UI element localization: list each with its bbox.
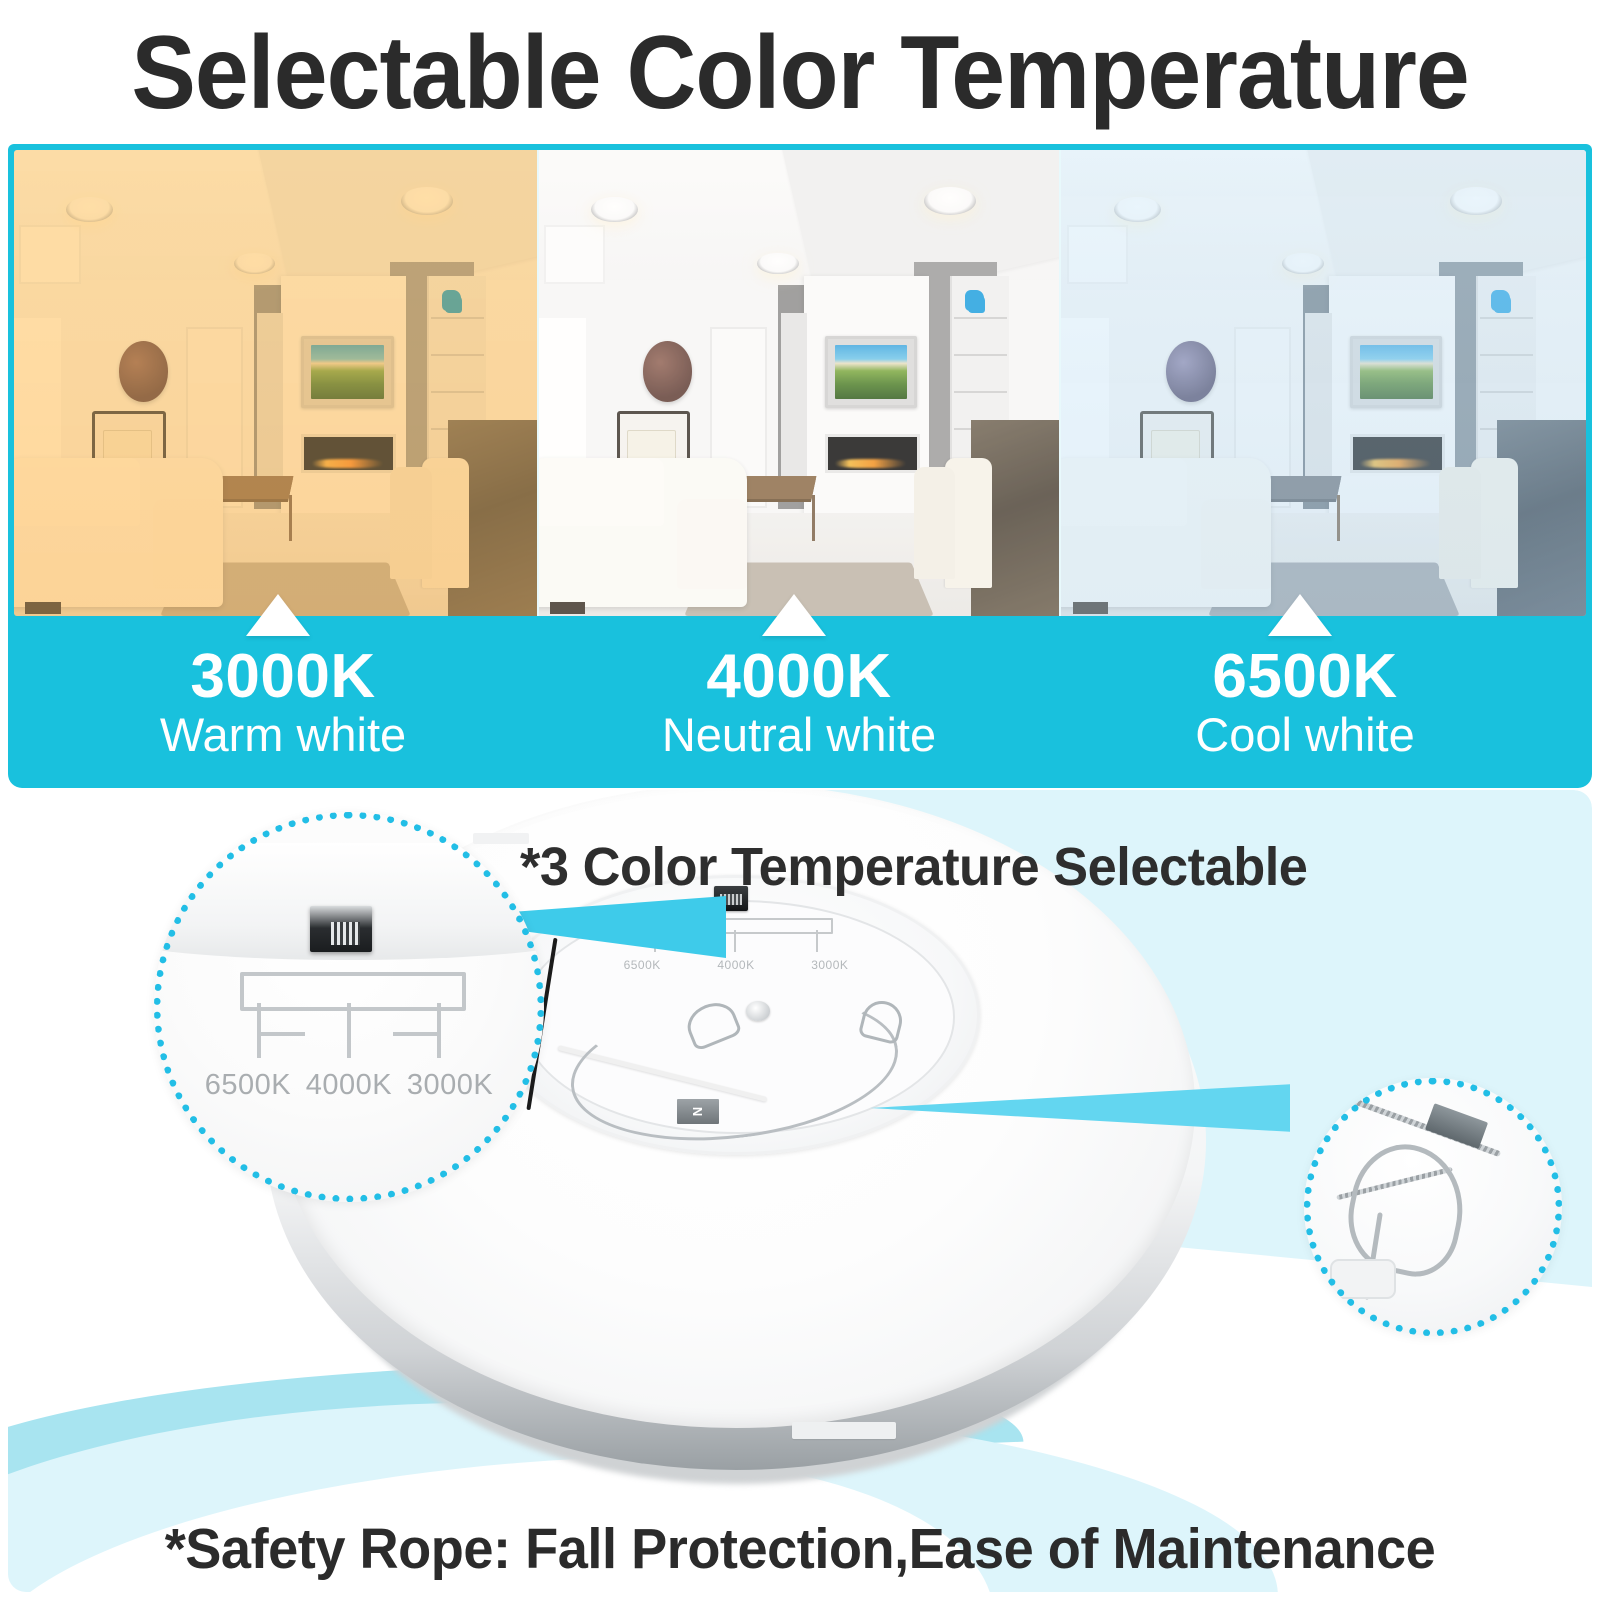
ceiling-light-fixture (1282, 253, 1324, 274)
mounting-screw (746, 1001, 770, 1021)
header: Selectable Color Temperature (0, 0, 1600, 146)
blue-deer-figurine (442, 290, 462, 311)
footnote-text: *Safety Rope: Fall Protection,Ease of Ma… (48, 1516, 1553, 1582)
wall-plate-decor (643, 341, 692, 402)
ceiling-light-fixture (234, 253, 276, 274)
room-photo-strip (14, 150, 1586, 616)
sofa (537, 458, 747, 607)
wire-tag-label: N (691, 1107, 706, 1116)
kelvin-name-neutral: Neutral white (604, 710, 994, 761)
sofa (14, 458, 223, 607)
switch-label-4000k: 4000K (717, 958, 754, 972)
tv-screen (825, 336, 917, 407)
room-scene-warm (14, 150, 537, 616)
label-group-warm: 3000K Warm white (88, 644, 478, 760)
wire-tag: N (677, 1099, 719, 1124)
blue-deer-figurine (965, 290, 984, 311)
fireplace (1350, 434, 1445, 473)
switch-label-6500k: 6500K (624, 958, 661, 972)
pointer-arrow-neutral (762, 594, 826, 636)
color-temperature-comparison-card: 3000K Warm white 4000K Neutral white 650… (8, 144, 1592, 788)
kelvin-name-warm: Warm white (88, 710, 478, 761)
kelvin-value-warm: 3000K (88, 644, 478, 710)
tv-screen (301, 336, 393, 407)
pointer-arrow-warm (246, 594, 310, 636)
kelvin-value-neutral: 4000K (604, 644, 994, 710)
room-scene-cool (1059, 150, 1586, 616)
kelvin-value-cool: 6500K (1110, 644, 1500, 710)
pointer-arrow-cool (1268, 594, 1332, 636)
blue-deer-figurine (1491, 290, 1511, 311)
magnifier-dotted-ring-rope (1304, 1078, 1562, 1336)
ceiling-light-fixture (1450, 187, 1502, 215)
switch-kelvin-labels: 6500K 4000K 3000K (624, 958, 849, 972)
fireplace (301, 434, 396, 473)
wall-plate-decor (1166, 341, 1216, 402)
product-detail-card: 6500K 4000K 3000K N (8, 790, 1592, 1592)
kelvin-name-cool: Cool white (1110, 710, 1500, 761)
room-scene-neutral (537, 150, 1060, 616)
tv-screen (1350, 336, 1443, 407)
product-subhead: *3 Color Temperature Selectable (520, 836, 1307, 898)
label-group-neutral: 4000K Neutral white (604, 644, 994, 760)
switch-label-3000k: 3000K (811, 958, 848, 972)
label-group-cool: 6500K Cool white (1110, 644, 1500, 760)
ceiling-light-fixture (1114, 197, 1161, 223)
ceiling-light-fixture (401, 187, 453, 215)
wall-plate-decor (119, 341, 169, 402)
sofa (1059, 458, 1271, 607)
ceiling-light-fixture (591, 197, 638, 223)
fireplace (825, 434, 920, 473)
ceiling-light-fixture (757, 253, 799, 274)
page-title: Selectable Color Temperature (131, 21, 1468, 125)
infographic-page: Selectable Color Temperature (0, 0, 1600, 1600)
magnifier-dotted-ring-switch (154, 812, 544, 1202)
